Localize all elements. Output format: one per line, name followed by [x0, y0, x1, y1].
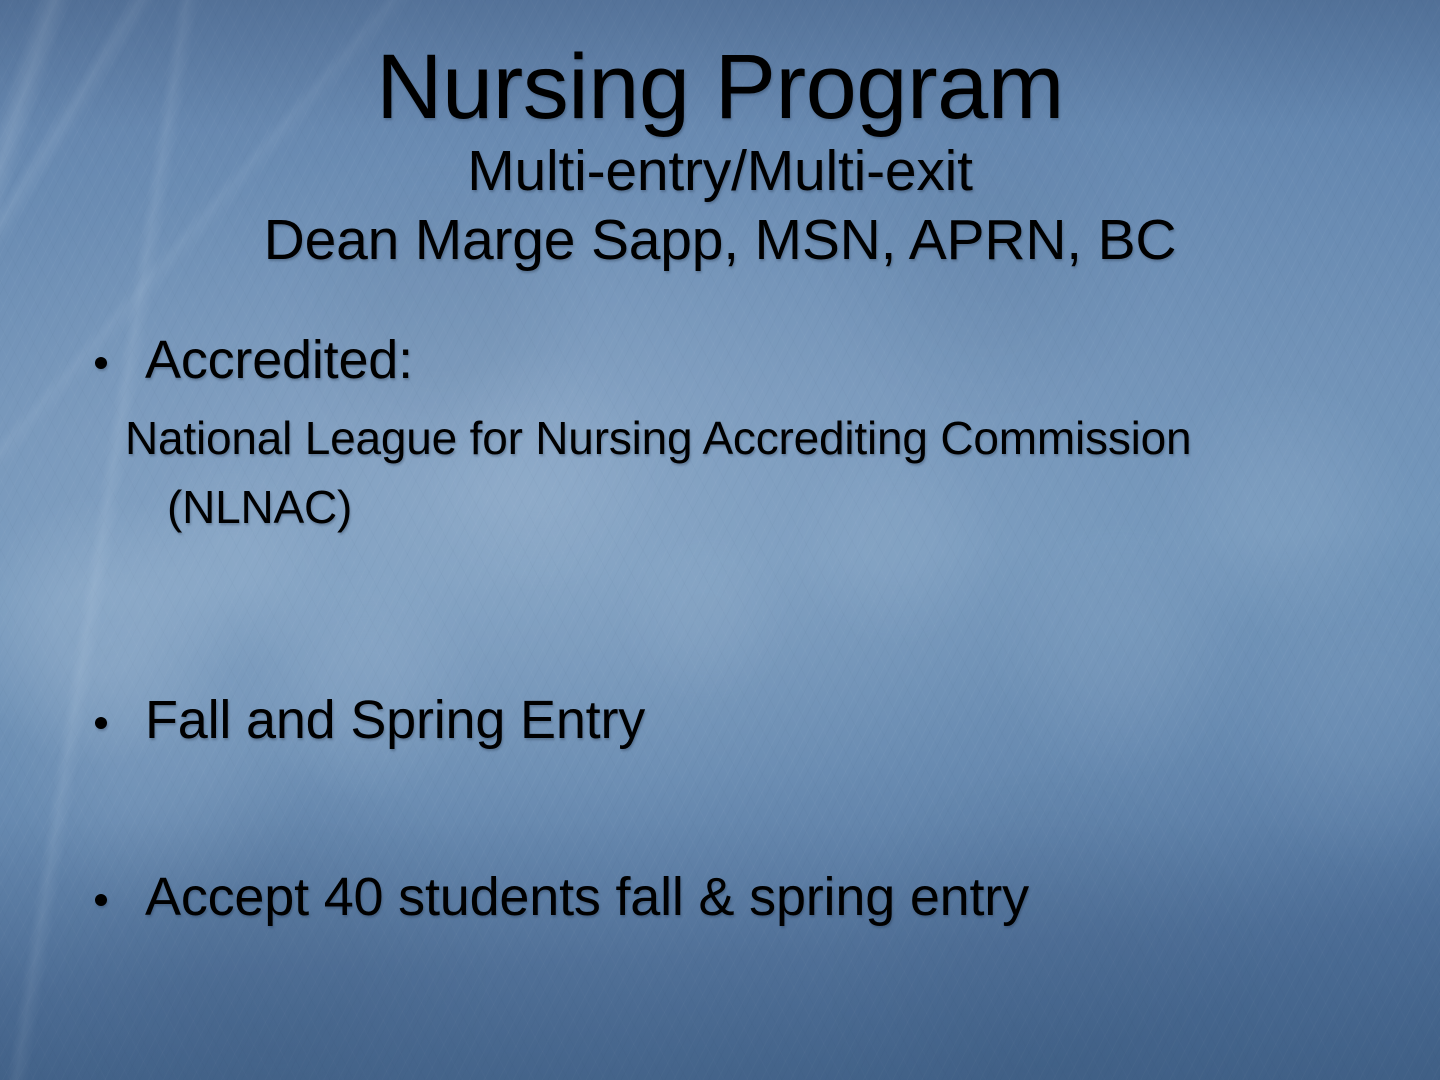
- slide-subtitle-program-type: Multi-entry/Multi-exit: [0, 138, 1440, 205]
- slide-title: Nursing Program: [0, 42, 1440, 132]
- bullet-dot-icon: [95, 717, 107, 729]
- slide-subtitle-presenter: Dean Marge Sapp, MSN, APRN, BC: [0, 207, 1440, 274]
- bullet-list: Accredited: National League for Nursing …: [78, 330, 1380, 927]
- title-block: Nursing Program Multi-entry/Multi-exit D…: [0, 42, 1440, 275]
- spacer-1: [78, 542, 1380, 690]
- list-item: Fall and Spring Entry: [78, 690, 1380, 750]
- bullet-label-accredited: Accredited:: [145, 330, 413, 390]
- presentation-slide: Nursing Program Multi-entry/Multi-exit D…: [0, 0, 1440, 1080]
- bullet-dot-icon: [95, 357, 107, 369]
- bullet-detail-accrediting-body: National League for Nursing Accrediting …: [78, 404, 1207, 542]
- spacer-2: [78, 751, 1380, 867]
- bullet-dot-icon: [95, 894, 107, 906]
- bullet-label-capacity: Accept 40 students fall & spring entry: [145, 867, 1029, 927]
- bullet-label-entry-terms: Fall and Spring Entry: [145, 690, 645, 750]
- list-item: Accredited:: [78, 330, 1380, 390]
- slide-content: Nursing Program Multi-entry/Multi-exit D…: [0, 0, 1440, 1080]
- list-item: Accept 40 students fall & spring entry: [78, 867, 1380, 927]
